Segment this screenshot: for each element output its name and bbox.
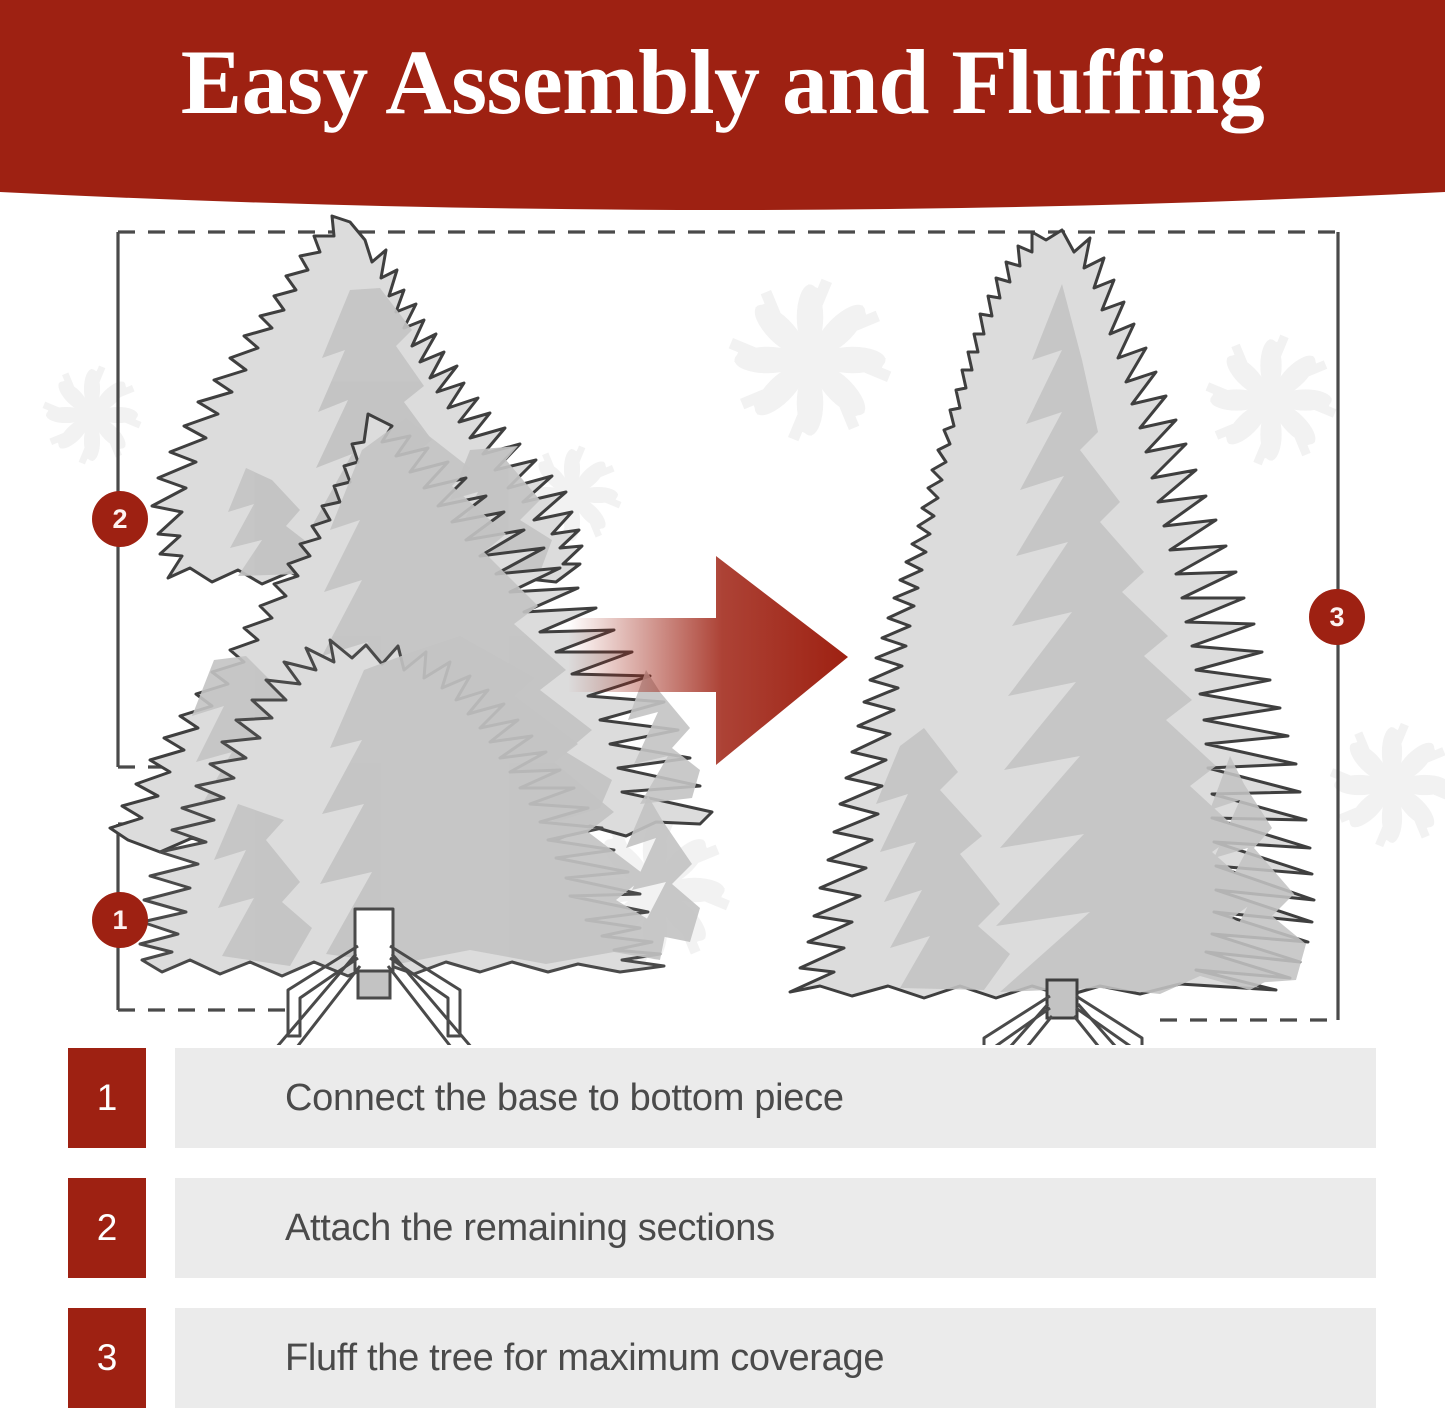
step-row: 3 Fluff the tree for maximum coverage xyxy=(0,1308,1445,1408)
snowflake-icon xyxy=(725,275,895,445)
assembly-steps-list: 1 Connect the base to bottom piece 2 Att… xyxy=(0,1048,1445,1408)
step-number-badge: 1 xyxy=(68,1048,146,1148)
step-number-badge: 3 xyxy=(68,1308,146,1408)
page-title: Easy Assembly and Fluffing xyxy=(0,33,1445,132)
snowflake-icon xyxy=(1202,331,1339,468)
step-text: Connect the base to bottom piece xyxy=(285,1048,844,1148)
step-number-label: 2 xyxy=(97,1207,118,1249)
step-number-label: 1 xyxy=(97,1077,118,1119)
step-number-badge: 2 xyxy=(68,1178,146,1278)
diagram-canvas xyxy=(0,200,1445,1045)
step-row: 2 Attach the remaining sections xyxy=(0,1178,1445,1278)
diagram-marker-3: 3 xyxy=(1309,589,1365,645)
tree-trunk xyxy=(1047,980,1077,1018)
step-row: 1 Connect the base to bottom piece xyxy=(0,1048,1445,1148)
diagram-marker-1: 1 xyxy=(92,892,148,948)
diagram-marker-2-label: 2 xyxy=(112,504,127,535)
diagram-marker-1-label: 1 xyxy=(112,905,127,936)
step-number-label: 3 xyxy=(97,1337,118,1379)
diagram-marker-3-label: 3 xyxy=(1329,602,1344,633)
header-banner: Easy Assembly and Fluffing xyxy=(0,0,1445,215)
assembly-diagram: 2 1 3 xyxy=(0,200,1445,1045)
snowflake-icon xyxy=(40,363,144,467)
step-text: Fluff the tree for maximum coverage xyxy=(285,1308,884,1408)
product-infographic: Easy Assembly and Fluffing xyxy=(0,0,1445,1416)
diagram-marker-2: 2 xyxy=(92,491,148,547)
step-text: Attach the remaining sections xyxy=(285,1178,775,1278)
snowflake-icon xyxy=(1327,720,1445,850)
